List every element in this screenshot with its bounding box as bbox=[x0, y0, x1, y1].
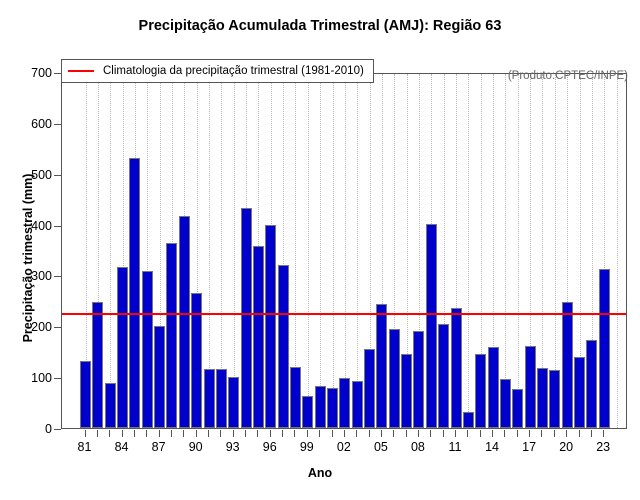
y-tick-mark bbox=[54, 429, 61, 430]
bar bbox=[92, 302, 103, 428]
x-tick-mark bbox=[406, 430, 407, 437]
x-tick-mark bbox=[220, 430, 221, 437]
bar bbox=[339, 378, 350, 428]
legend-line-swatch bbox=[68, 70, 94, 72]
y-tick-label: 600 bbox=[12, 117, 52, 131]
x-tick-mark bbox=[257, 430, 258, 437]
bar bbox=[488, 347, 499, 428]
x-tick-mark bbox=[443, 430, 444, 437]
x-tick-mark bbox=[319, 430, 320, 437]
gridline-vertical bbox=[320, 74, 321, 428]
y-axis-title: Precipitação trimestral (mm) bbox=[21, 133, 35, 383]
bar bbox=[438, 324, 449, 428]
bar bbox=[463, 412, 474, 428]
x-tick-mark bbox=[159, 430, 160, 437]
x-tick-label: 96 bbox=[255, 440, 285, 454]
gridline-vertical bbox=[357, 74, 358, 428]
bar bbox=[451, 308, 462, 428]
bar bbox=[599, 269, 610, 428]
gridline-vertical bbox=[234, 74, 235, 428]
x-tick-mark bbox=[393, 430, 394, 437]
bar bbox=[166, 243, 177, 428]
x-tick-label: 08 bbox=[403, 440, 433, 454]
x-tick-label: 81 bbox=[70, 440, 100, 454]
y-tick-label: 0 bbox=[12, 422, 52, 436]
bar bbox=[549, 370, 560, 428]
bar bbox=[315, 386, 326, 428]
x-tick-mark bbox=[294, 430, 295, 437]
y-tick-mark bbox=[54, 378, 61, 379]
gridline-vertical bbox=[333, 74, 334, 428]
x-tick-label: 14 bbox=[477, 440, 507, 454]
x-tick-mark bbox=[541, 430, 542, 437]
bar bbox=[265, 225, 276, 428]
y-tick-mark bbox=[54, 73, 61, 74]
x-tick-mark bbox=[603, 430, 604, 437]
gridline-vertical bbox=[110, 74, 111, 428]
bar bbox=[80, 361, 91, 428]
x-tick-label: 17 bbox=[514, 440, 544, 454]
bar bbox=[241, 208, 252, 428]
bar bbox=[142, 271, 153, 428]
x-tick-mark bbox=[122, 430, 123, 437]
gridline-vertical bbox=[468, 74, 469, 428]
y-tick-mark bbox=[54, 226, 61, 227]
x-tick-mark bbox=[344, 430, 345, 437]
precipitation-bar-chart: Precipitação Acumulada Trimestral (AMJ):… bbox=[0, 0, 640, 500]
x-tick-mark bbox=[109, 430, 110, 437]
x-tick-mark bbox=[529, 430, 530, 437]
bar bbox=[401, 354, 412, 428]
x-tick-label: 02 bbox=[329, 440, 359, 454]
x-tick-mark bbox=[418, 430, 419, 437]
x-axis-title: Ano bbox=[0, 466, 640, 480]
bar bbox=[253, 246, 264, 428]
bar bbox=[302, 396, 313, 428]
legend: Climatologia da precipitação trimestral … bbox=[61, 59, 374, 83]
x-tick-label: 84 bbox=[107, 440, 137, 454]
x-tick-mark bbox=[467, 430, 468, 437]
bar bbox=[117, 267, 128, 428]
x-tick-mark bbox=[282, 430, 283, 437]
x-tick-mark bbox=[171, 430, 172, 437]
bar bbox=[574, 357, 585, 428]
bar bbox=[475, 354, 486, 428]
legend-label-climatologia: Climatologia da precipitação trimestral … bbox=[103, 65, 364, 77]
x-tick-mark bbox=[356, 430, 357, 437]
bar bbox=[562, 302, 573, 428]
x-tick-label: 11 bbox=[440, 440, 470, 454]
bar bbox=[204, 369, 215, 429]
x-tick-mark bbox=[492, 430, 493, 437]
plot-area bbox=[61, 73, 627, 429]
bar bbox=[216, 369, 227, 429]
x-tick-label: 05 bbox=[366, 440, 396, 454]
bar bbox=[413, 331, 424, 428]
x-tick-mark bbox=[332, 430, 333, 437]
bar bbox=[525, 346, 536, 428]
x-tick-mark bbox=[134, 430, 135, 437]
climatology-reference-line bbox=[62, 313, 626, 315]
x-tick-mark bbox=[480, 430, 481, 437]
y-tick-label: 700 bbox=[12, 66, 52, 80]
x-tick-mark bbox=[270, 430, 271, 437]
x-tick-mark bbox=[183, 430, 184, 437]
bar bbox=[290, 367, 301, 428]
bar bbox=[389, 329, 400, 428]
y-tick-mark bbox=[54, 327, 61, 328]
x-tick-label: 93 bbox=[218, 440, 248, 454]
bar bbox=[586, 340, 597, 428]
bar bbox=[228, 377, 239, 428]
x-tick-mark bbox=[455, 430, 456, 437]
gridline-vertical bbox=[308, 74, 309, 428]
x-tick-mark bbox=[208, 430, 209, 437]
x-tick-mark bbox=[566, 430, 567, 437]
page-title: Precipitação Acumulada Trimestral (AMJ):… bbox=[0, 18, 640, 34]
x-tick-mark bbox=[430, 430, 431, 437]
bar bbox=[426, 224, 437, 428]
produto-credit-label: (Produto:CPTEC/INPE) bbox=[508, 70, 628, 82]
x-tick-mark bbox=[245, 430, 246, 437]
bar bbox=[105, 383, 116, 428]
bar bbox=[376, 304, 387, 428]
x-tick-mark bbox=[591, 430, 592, 437]
gridline-vertical bbox=[518, 74, 519, 428]
y-tick-mark bbox=[54, 276, 61, 277]
bar bbox=[537, 368, 548, 428]
x-tick-mark bbox=[554, 430, 555, 437]
x-tick-mark bbox=[85, 430, 86, 437]
bar bbox=[327, 388, 338, 428]
bar bbox=[364, 349, 375, 428]
bar bbox=[179, 216, 190, 428]
x-tick-mark bbox=[233, 430, 234, 437]
gridline-vertical bbox=[345, 74, 346, 428]
x-tick-label: 87 bbox=[144, 440, 174, 454]
y-tick-mark bbox=[54, 175, 61, 176]
x-tick-label: 23 bbox=[588, 440, 618, 454]
y-tick-mark bbox=[54, 124, 61, 125]
x-tick-mark bbox=[504, 430, 505, 437]
x-tick-mark bbox=[146, 430, 147, 437]
x-tick-mark bbox=[97, 430, 98, 437]
bar bbox=[278, 265, 289, 428]
x-tick-label: 20 bbox=[551, 440, 581, 454]
bar bbox=[500, 379, 511, 428]
x-tick-mark bbox=[517, 430, 518, 437]
x-tick-mark bbox=[579, 430, 580, 437]
gridline-vertical bbox=[505, 74, 506, 428]
bar bbox=[129, 158, 140, 428]
x-tick-mark bbox=[369, 430, 370, 437]
x-tick-label: 90 bbox=[181, 440, 211, 454]
x-tick-mark bbox=[196, 430, 197, 437]
bar bbox=[512, 389, 523, 428]
bar bbox=[352, 381, 363, 428]
x-tick-mark bbox=[307, 430, 308, 437]
x-tick-label: 99 bbox=[292, 440, 322, 454]
bar bbox=[154, 326, 165, 428]
x-tick-mark bbox=[381, 430, 382, 437]
gridline-vertical bbox=[617, 74, 618, 428]
